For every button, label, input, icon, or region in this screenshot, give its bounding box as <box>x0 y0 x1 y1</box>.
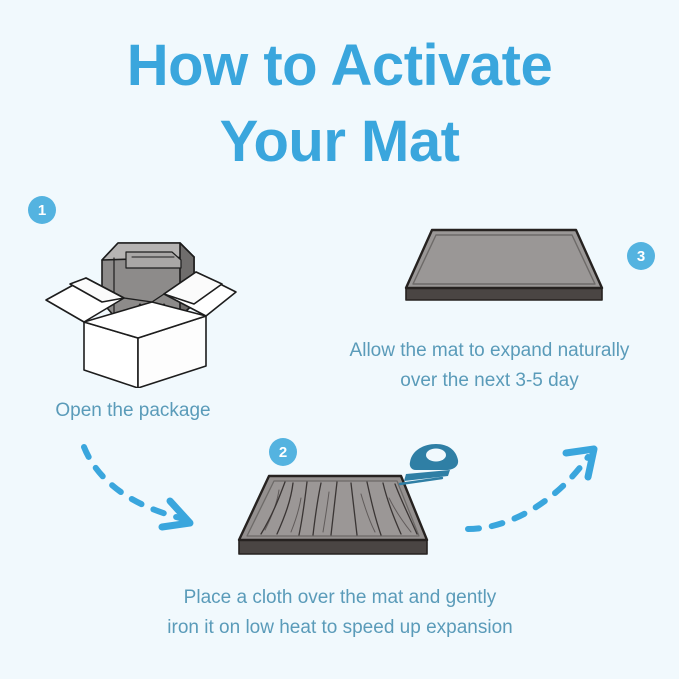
arrow-step1-to-step2 <box>78 443 218 548</box>
flat-mat-illustration <box>398 222 610 323</box>
step-3-badge: 3 <box>627 242 655 270</box>
page-title-line-2: Your Mat <box>0 104 679 180</box>
page-title-line-1: How to Activate <box>0 28 679 104</box>
step-1-caption: Open the package <box>0 396 266 426</box>
open-box-illustration <box>40 218 240 393</box>
page-title: How to Activate Your Mat <box>0 28 679 180</box>
step-2-badge: 2 <box>269 438 297 466</box>
step-2-caption: Place a cloth over the mat and gently ir… <box>95 583 585 643</box>
arrow-step2-to-step3 <box>462 443 612 548</box>
iron-icon <box>398 440 462 493</box>
step-3-caption: Allow the mat to expand naturally over t… <box>300 336 679 396</box>
infographic-canvas: How to Activate Your Mat 1 <box>0 0 679 679</box>
